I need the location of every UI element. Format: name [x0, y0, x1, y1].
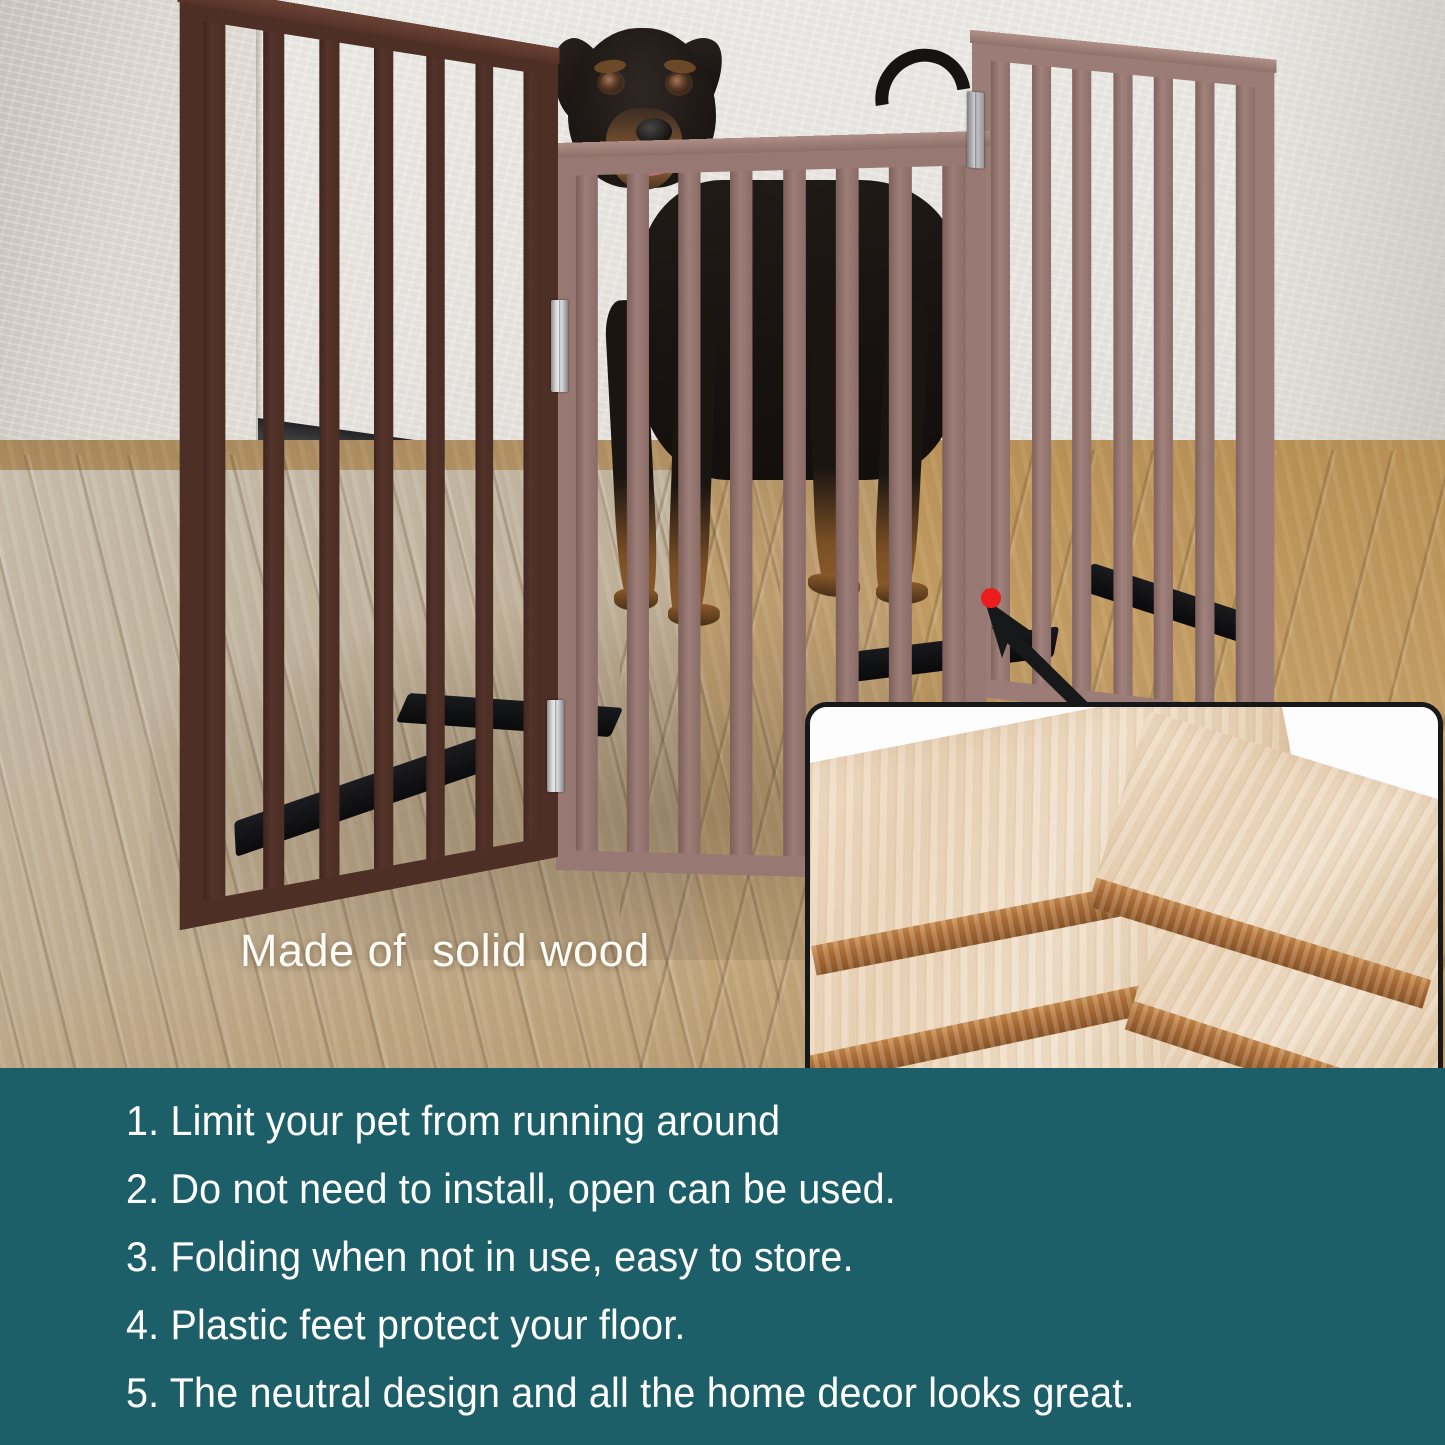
features-list: 1. Limit your pet from running around 2.…	[126, 1100, 1416, 1440]
feature-item-3: 3. Folding when not in use, easy to stor…	[126, 1236, 1339, 1278]
feature-item-1: 1. Limit your pet from running around	[126, 1100, 1339, 1142]
gate-slat	[730, 171, 752, 855]
gate-slat	[426, 56, 444, 859]
gate-slat	[320, 40, 340, 879]
feature-item-5: 5. The neutral design and all the home d…	[126, 1372, 1339, 1414]
gate-slat	[1236, 85, 1255, 710]
gate-slat	[627, 174, 649, 853]
gate-slat	[679, 172, 701, 853]
product-marketing-image: Made of solid wood 1. Limit your pet fro…	[0, 0, 1445, 1445]
gate-panel-left	[180, 0, 558, 930]
red-highlight-dot	[981, 588, 1001, 608]
panel-slats	[203, 21, 540, 900]
feature-item-4: 4. Plastic feet protect your floor.	[126, 1304, 1339, 1346]
gate-slat	[374, 48, 393, 869]
gate-slat	[523, 72, 540, 842]
gate-hinge	[551, 300, 568, 392]
gate-hinge	[967, 91, 984, 168]
gate-slat	[576, 175, 598, 851]
feature-item-2: 2. Do not need to install, open can be u…	[126, 1168, 1339, 1210]
inset-background	[810, 707, 1438, 1069]
product-photo: Made of solid wood	[0, 0, 1445, 1069]
caption-made-of-solid-wood: Made of solid wood	[240, 925, 650, 977]
gate-slat	[203, 21, 225, 900]
gate-slat	[783, 170, 806, 857]
features-panel: 1. Limit your pet from running around 2.…	[0, 1068, 1445, 1445]
gate-hinge	[547, 700, 564, 792]
gate-slat	[476, 64, 494, 850]
gate-slat	[263, 31, 284, 890]
wood-closeup-inset	[805, 702, 1443, 1069]
